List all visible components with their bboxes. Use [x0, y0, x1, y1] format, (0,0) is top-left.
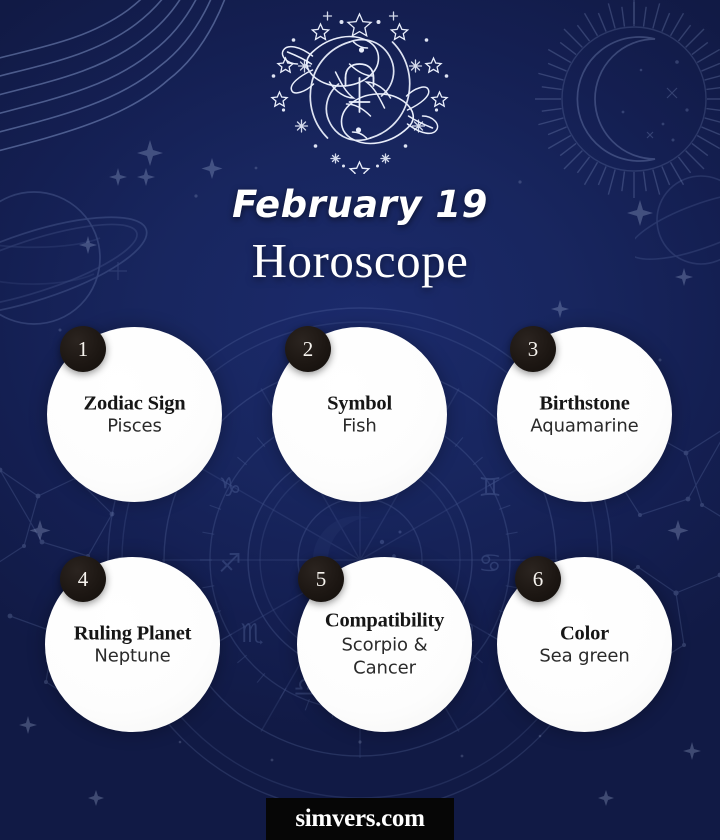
- svg-text:♊: ♊: [478, 473, 501, 503]
- crescent-moon-sunburst-icon: [527, 0, 720, 207]
- bubble-title: Compatibility: [275, 609, 494, 632]
- svg-text:♏: ♏: [240, 619, 263, 649]
- horoscope-poster: ♑ ♐ ♏ ♎ ♊ ♋ ♌ ♍ ♒ ♓ ♈ ♉: [0, 0, 720, 840]
- bubble-title: Birthstone: [475, 392, 694, 415]
- bubble-number-badge-6: 6: [515, 556, 561, 602]
- bubble-title: Ruling Planet: [23, 622, 242, 645]
- site-watermark: simvers.com: [266, 798, 454, 840]
- bubble-value-line: Cancer: [275, 657, 494, 680]
- bubble-value: Sea green: [475, 647, 694, 667]
- bubble-text: Symbol Fish: [250, 392, 469, 437]
- svg-text:♐: ♐: [218, 549, 241, 579]
- bubble-value: Neptune: [23, 647, 242, 667]
- horoscope-date: February 19: [0, 183, 720, 226]
- bubble-text: Zodiac Sign Pisces: [25, 392, 244, 437]
- bubble-value: Aquamarine: [475, 417, 694, 437]
- bubble-number-badge-2: 2: [285, 326, 331, 372]
- svg-text:♑: ♑: [218, 473, 241, 503]
- svg-text:♋: ♋: [478, 549, 501, 579]
- bubble-value: Pisces: [25, 417, 244, 437]
- bubble-value-line: Scorpio &: [275, 634, 494, 657]
- bubble-value: Fish: [250, 417, 469, 437]
- bubble-number-badge-3: 3: [510, 326, 556, 372]
- bubble-text: Color Sea green: [475, 622, 694, 667]
- bubble-title: Zodiac Sign: [25, 392, 244, 415]
- bubble-title: Color: [475, 622, 694, 645]
- bubble-number-badge-5: 5: [298, 556, 344, 602]
- bubble-text: Compatibility Scorpio & Cancer: [275, 609, 494, 680]
- bubble-value: Scorpio & Cancer: [275, 634, 494, 680]
- bubble-text: Birthstone Aquamarine: [475, 392, 694, 437]
- flowing-wave-lines-icon: [0, 0, 270, 190]
- page-title: Horoscope: [0, 232, 720, 289]
- bubble-title: Symbol: [250, 392, 469, 415]
- pisces-zodiac-emblem-icon: [258, 6, 463, 174]
- site-watermark-label: simvers.com: [295, 805, 424, 833]
- bubble-number-badge-4: 4: [60, 556, 106, 602]
- bubble-number-badge-1: 1: [60, 326, 106, 372]
- bubble-text: Ruling Planet Neptune: [23, 622, 242, 667]
